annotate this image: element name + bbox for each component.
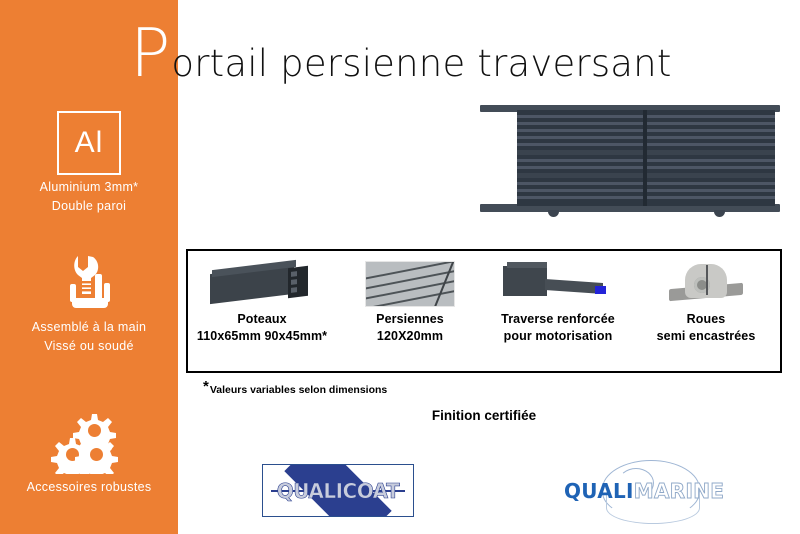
sidebar-feature-aluminium-line1: Aluminium 3mm* xyxy=(0,178,178,197)
footnote-asterisk: * xyxy=(203,378,209,395)
component-traverse-label: Traverse renforcée xyxy=(501,312,615,326)
sidebar-feature-aluminium: Al Aluminium 3mm* Double paroi xyxy=(0,108,178,216)
gate-wheel xyxy=(548,210,559,217)
gears-icon xyxy=(0,408,178,478)
certification-heading: Finition certifiée xyxy=(186,408,782,423)
footnote: *Valeurs variables selon dimensions xyxy=(203,378,387,396)
wrench-assembly-icon xyxy=(0,248,178,318)
components-panel: Poteaux 110x65mm 90x45mm* Persiennes 120… xyxy=(186,249,782,373)
component-roues-label-line2: semi encastrées xyxy=(657,328,756,345)
component-roues: Roues semi encastrées xyxy=(632,251,780,371)
qualimarine-wordmark-part2: MARINE xyxy=(634,479,724,503)
sliding-louvered-gate-photo xyxy=(470,98,785,220)
qualicoat-logo: QUALICOAT xyxy=(262,464,414,517)
aluminium-symbol-label: Al xyxy=(57,111,121,175)
footnote-text: Valeurs variables selon dimensions xyxy=(210,384,387,396)
title-text: ortail persienne traversant xyxy=(171,33,671,95)
gate-leaf-panel xyxy=(517,110,775,206)
qualicoat-wordmark: QUALICOAT xyxy=(277,479,400,503)
louvre-slats-thumbnail xyxy=(365,257,455,311)
reinforced-crossbar-thumbnail xyxy=(503,257,613,311)
roller-wheel-thumbnail xyxy=(669,257,743,311)
component-persiennes-label: Persiennes xyxy=(376,312,444,326)
component-persiennes-dimensions: 120X20mm xyxy=(376,328,444,345)
qualimarine-wordmark-part1: QUALI xyxy=(564,479,634,503)
component-poteaux-label: Poteaux xyxy=(237,312,286,326)
component-persiennes: Persiennes 120X20mm xyxy=(336,251,484,371)
component-poteaux-dimensions: 110x65mm 90x45mm* xyxy=(197,328,327,345)
component-traverse: Traverse renforcée pour motorisation xyxy=(484,251,632,371)
gate-center-post xyxy=(643,110,647,206)
sidebar-feature-assembly-line1: Assemblé à la main xyxy=(0,318,178,337)
component-traverse-label-line2: pour motorisation xyxy=(501,328,615,345)
aluminium-box-icon: Al xyxy=(0,108,178,178)
component-roues-label: Roues xyxy=(687,312,726,326)
component-poteaux: Poteaux 110x65mm 90x45mm* xyxy=(188,251,336,371)
sidebar-feature-assembly: Assemblé à la main Vissé ou soudé xyxy=(0,248,178,356)
sidebar-feature-accessories: Accessoires robustes xyxy=(0,408,178,497)
sidebar-feature-aluminium-line2: Double paroi xyxy=(0,197,178,216)
qualimarine-logo: QUALIMARINE xyxy=(560,466,730,516)
gate-wheel xyxy=(714,210,725,217)
page-title: P ortail persienne traversant xyxy=(130,22,672,84)
sidebar-feature-accessories-line1: Accessoires robustes xyxy=(0,478,178,497)
product-datasheet-page: Al Aluminium 3mm* Double paroi Assemblé … xyxy=(0,0,800,534)
title-dropcap: P xyxy=(130,22,170,84)
sidebar-feature-assembly-line2: Vissé ou soudé xyxy=(0,337,178,356)
aluminium-post-profile-thumbnail xyxy=(210,257,314,311)
